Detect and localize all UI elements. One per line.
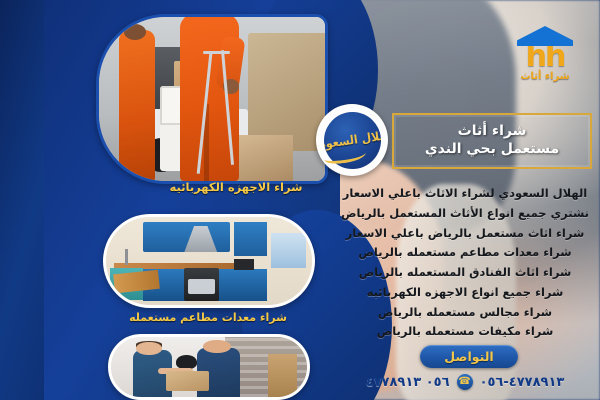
phone-number-left[interactable]: ٠٥٦ ٤٧٧٨٩١٣ (366, 375, 450, 390)
headline-box: شراء أثاث مستعمل بحي الندي (392, 113, 592, 169)
contact-button[interactable]: التواصل (420, 345, 518, 368)
kitchen-microwave (234, 259, 255, 270)
logo-monogram: hh (502, 45, 588, 70)
phone-icon: ☎ (457, 374, 473, 390)
kitchen-window (271, 233, 306, 268)
service-line: شراء اثاث مستعمل بالرياض باعلي الاسعار (336, 224, 594, 244)
phone-number-right[interactable]: ٤٧٧٨٩١٣-٠٥٦ (480, 375, 565, 390)
headline-line-1: شراء أثاث (458, 123, 527, 141)
customer-head (203, 340, 230, 353)
service-line: شراء اثاث الفنادق المستعمله بالرياض (336, 263, 594, 283)
service-line: نشتري جميع انواع الأثاث المستعمل بالرياض (336, 204, 594, 224)
mover-person-left (119, 30, 155, 181)
kitchen-cutting-board (113, 269, 160, 293)
kitchen-upper-cabinets-right (234, 222, 267, 255)
service-line: الهلال السعودي لشراء الاثاث باعلي الاسعا… (336, 184, 594, 204)
house-roof-icon (517, 26, 573, 46)
photo-movers (96, 14, 328, 184)
badge-swoosh-icon (324, 147, 367, 165)
courier-head (136, 342, 161, 355)
movers-scene (99, 17, 325, 181)
hand-truck-handle (203, 51, 230, 54)
brand-logo: hh شراء أثاث (502, 26, 588, 90)
service-line: شراء مكيفات مستعمله بالرياض (336, 322, 594, 342)
cardboard-box-low (230, 135, 293, 181)
service-line: شراء مجالس مستعمله بالرياض (336, 303, 594, 323)
kitchen-faucet (125, 249, 128, 265)
caption-restaurant-equipment: شراء معدات مطاعم مستعمله (96, 311, 320, 324)
badge-inner-circle: الهلال السعودي (324, 112, 381, 169)
delivery-scene (111, 337, 307, 397)
phone-row: ٠٥٦ ٤٧٧٨٩١٣ ☎ ٤٧٧٨٩١٣-٠٥٦ (336, 372, 594, 392)
service-line: شراء معدات مطاعم مستعمله بالرياض (336, 243, 594, 263)
photo-delivery (108, 334, 310, 400)
services-list: الهلال السعودي لشراء الاثاث باعلي الاسعا… (336, 184, 594, 342)
delivery-box (166, 371, 209, 391)
company-seal-badge: الهلال السعودي (316, 104, 388, 176)
caption-electronics: شراء الاجهزه الكهربائيه (150, 180, 322, 194)
contact-button-label: التواصل (444, 349, 493, 364)
headline-line-2: مستعمل بحي الندي (425, 141, 559, 159)
photo-kitchen (103, 214, 315, 308)
kitchen-scene (106, 217, 312, 305)
logo-subtitle: شراء أثاث (502, 71, 588, 82)
advertisement-poster: شراء الاجهزه الكهربائيه شراء معدات مطاعم… (0, 0, 600, 400)
kitchen-oven-window (188, 279, 215, 295)
wooden-door (268, 354, 297, 397)
service-line: شراء جميع انواع الاجهزه الكهربائيه (336, 283, 594, 303)
